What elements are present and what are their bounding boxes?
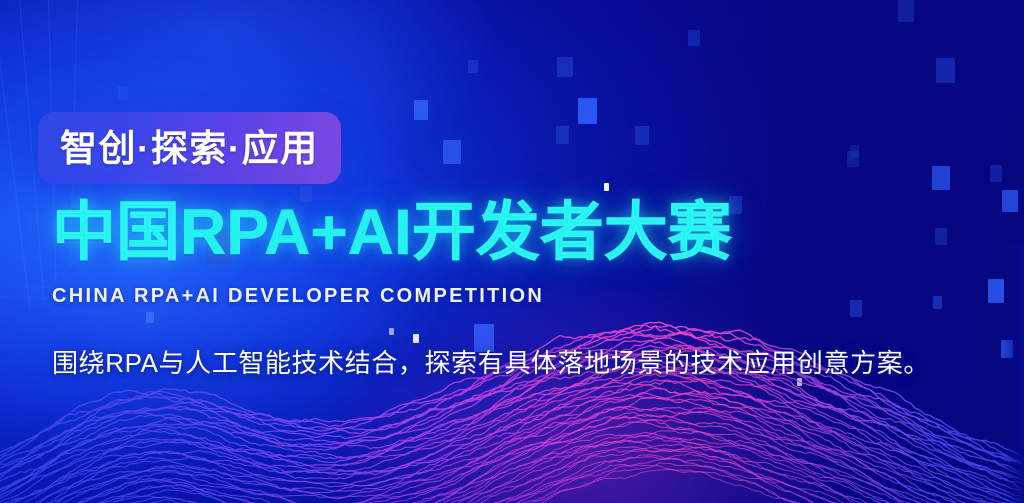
particle-square bbox=[1002, 190, 1018, 212]
particle-square bbox=[578, 98, 597, 124]
particle-square bbox=[556, 126, 569, 144]
slogan-badge: 智创·探索·应用 bbox=[38, 112, 341, 184]
english-subtitle: CHINA RPA+AI DEVELOPER COMPETITION bbox=[52, 285, 544, 308]
page-title: 中国RPA+AI开发者大赛 bbox=[52, 200, 732, 264]
particle-square bbox=[118, 86, 128, 100]
particle-square bbox=[898, 0, 914, 22]
competition-banner: 智创·探索·应用 中国RPA+AI开发者大赛 CHINA RPA+AI DEVE… bbox=[0, 0, 1024, 503]
slogan-badge-text: 智创·探索·应用 bbox=[60, 130, 319, 167]
description-text: 围绕RPA与人工智能技术结合，探索有具体落地场景的技术应用创意方案。 bbox=[52, 343, 930, 380]
particle-square bbox=[635, 126, 649, 145]
particle-square bbox=[468, 60, 478, 73]
particle-square bbox=[990, 165, 1002, 182]
particle-square bbox=[414, 100, 428, 120]
particle-square bbox=[850, 145, 859, 158]
particle-square bbox=[688, 30, 700, 46]
particle-square bbox=[557, 57, 573, 77]
particle-square bbox=[443, 140, 461, 164]
particle-square bbox=[604, 183, 609, 191]
particle-square bbox=[936, 58, 955, 83]
particle-square bbox=[932, 166, 950, 190]
